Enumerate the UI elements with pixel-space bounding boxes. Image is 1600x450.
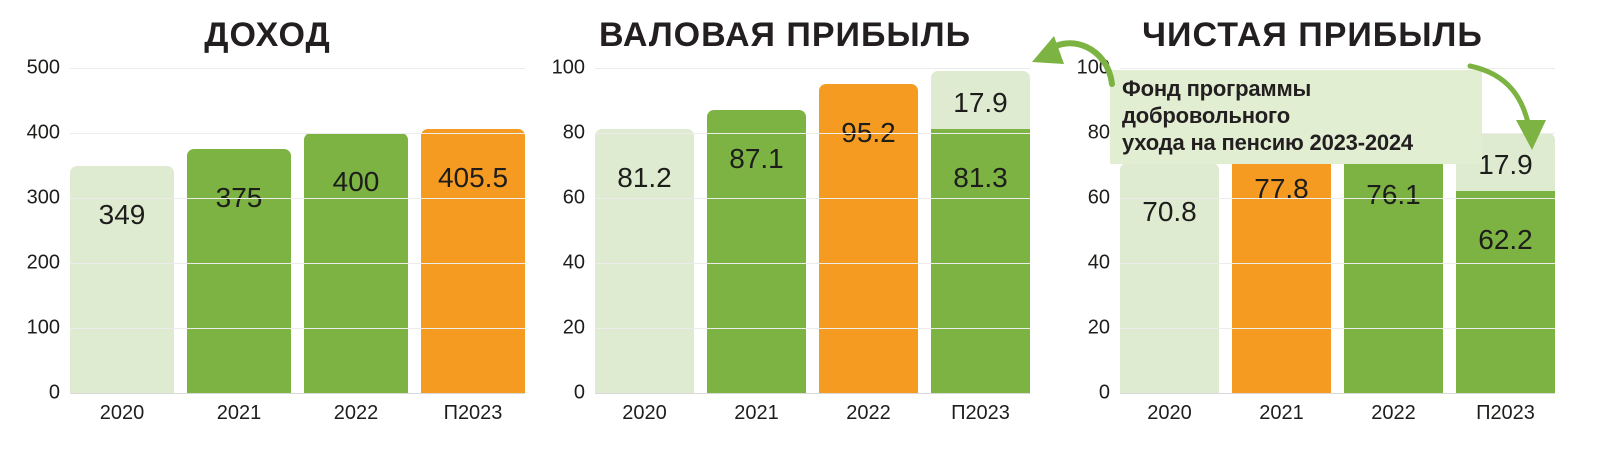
gridline (595, 133, 1030, 134)
x-tick-label: 2021 (187, 402, 291, 425)
gridline (1120, 328, 1555, 329)
bar-value-label: 349 (70, 199, 174, 231)
annotation-line-2: ухода на пенсию 2023-2024 (1122, 130, 1470, 157)
y-tick-label: 60 (533, 187, 585, 210)
y-tick-label: 40 (533, 252, 585, 275)
gridline (595, 198, 1030, 199)
y-tick-label: 40 (1058, 252, 1110, 275)
gridline (70, 263, 525, 264)
axis-baseline (1120, 393, 1555, 394)
gridline (595, 328, 1030, 329)
annotation-callout: Фонд программы добровольного ухода на пе… (1110, 70, 1482, 164)
bar-value-label: 70.8 (1120, 196, 1219, 228)
gridline (70, 198, 525, 199)
y-tick-label: 20 (533, 317, 585, 340)
gridline (1120, 198, 1555, 199)
x-tick-label: 2022 (304, 402, 408, 425)
infographic-root: ДОХОД 0100200300400500 349375400405.5 20… (0, 0, 1600, 450)
bar-value-label: 77.8 (1232, 173, 1331, 205)
bar-stack-value-label: 17.9 (931, 87, 1030, 119)
x-tick-label: 2022 (819, 402, 918, 425)
y-tick-label: 80 (533, 122, 585, 145)
annotation-line-1: Фонд программы добровольного (1122, 76, 1470, 130)
x-tick-label: П2023 (421, 402, 525, 425)
gridline (595, 68, 1030, 69)
chart-title-net-profit: ЧИСТАЯ ПРИБЫЛЬ (1065, 16, 1560, 55)
bar-value-label: 87.1 (707, 143, 806, 175)
bar-value-label: 81.3 (931, 162, 1030, 194)
gridline (70, 68, 525, 69)
x-tick-label: П2023 (1456, 402, 1555, 425)
chart-title-revenue: ДОХОД (0, 16, 535, 55)
y-tick-label: 400 (8, 122, 60, 145)
y-tick-label: 0 (533, 382, 585, 405)
bar-value-label: 76.1 (1344, 179, 1443, 211)
y-tick-label: 0 (1058, 382, 1110, 405)
chart-panel-revenue: ДОХОД 0100200300400500 349375400405.5 20… (0, 0, 535, 450)
bar-value-label: 81.2 (595, 162, 694, 194)
y-tick-label: 500 (8, 57, 60, 80)
y-tick-label: 200 (8, 252, 60, 275)
y-tick-label: 300 (8, 187, 60, 210)
x-tick-label: 2020 (1120, 402, 1219, 425)
chart-panel-net-profit: ЧИСТАЯ ПРИБЫЛЬ 020406080100 70.877.876.1… (1035, 0, 1600, 450)
axis-baseline (70, 393, 525, 394)
bar-value-label: 405.5 (421, 162, 525, 194)
x-tick-label: 2020 (595, 402, 694, 425)
bar-value-label: 400 (304, 166, 408, 198)
gridline (1120, 68, 1555, 69)
gridline (1120, 263, 1555, 264)
bar-value-label: 62.2 (1456, 224, 1555, 256)
gridline (70, 133, 525, 134)
x-tick-label: 2021 (1232, 402, 1331, 425)
y-tick-label: 60 (1058, 187, 1110, 210)
axis-baseline (595, 393, 1030, 394)
y-tick-label: 100 (1058, 57, 1110, 80)
gridline (595, 263, 1030, 264)
x-tick-label: П2023 (931, 402, 1030, 425)
y-tick-label: 100 (533, 57, 585, 80)
chart-title-gross-profit: ВАЛОВАЯ ПРИБЫЛЬ (535, 16, 1035, 55)
y-tick-label: 100 (8, 317, 60, 340)
y-tick-label: 20 (1058, 317, 1110, 340)
x-tick-label: 2022 (1344, 402, 1443, 425)
x-tick-label: 2021 (707, 402, 806, 425)
chart-panel-gross-profit: ВАЛОВАЯ ПРИБЫЛЬ 020406080100 81.287.195.… (535, 0, 1035, 450)
gridline (70, 328, 525, 329)
y-tick-label: 80 (1058, 122, 1110, 145)
y-tick-label: 0 (8, 382, 60, 405)
x-tick-label: 2020 (70, 402, 174, 425)
bar[interactable] (1456, 191, 1555, 393)
